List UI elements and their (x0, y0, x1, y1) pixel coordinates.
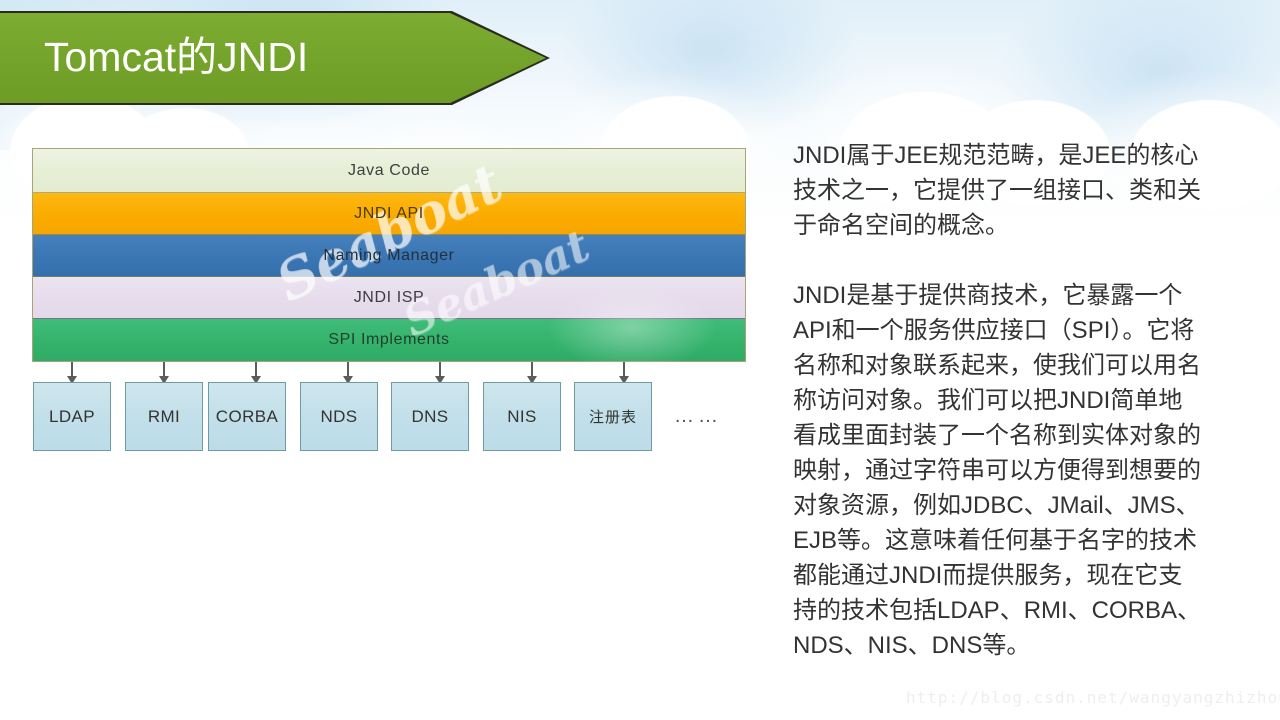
provider-box-rmi-label: RMI (148, 407, 180, 427)
provider-box-corba-label: CORBA (216, 407, 278, 427)
provider-box-ldap-label: LDAP (49, 407, 95, 427)
provider-box-nds[interactable]: NDS (300, 382, 378, 451)
body-paragraph-2: JNDI是基于提供商技术，它暴露一个API和一个服务供应接口（SPI）。它将名称… (793, 278, 1205, 663)
layer-jndi-api-label: JNDI API (354, 205, 424, 223)
layer-spi-implements: SPI Implements (33, 319, 745, 361)
connector-arrow-dns (439, 362, 441, 380)
provider-box-dns[interactable]: DNS (391, 382, 469, 451)
provider-box-registry[interactable]: 注册表 (574, 382, 652, 451)
provider-box-ldap[interactable]: LDAP (33, 382, 111, 451)
provider-box-rmi[interactable]: RMI (125, 382, 203, 451)
provider-box-registry-label: 注册表 (589, 406, 637, 427)
connector-arrow-nis (531, 362, 533, 380)
body-paragraph-1: JNDI属于JEE规范范畴，是JEE的核心技术之一，它提供了一组接口、类和关于命… (793, 138, 1205, 243)
layer-naming-manager: Naming Manager (33, 235, 745, 277)
layer-jndi-api: JNDI API (33, 193, 745, 235)
connector-arrow-rmi (163, 362, 165, 380)
provider-box-nis[interactable]: NIS (483, 382, 561, 451)
provider-box-dns-label: DNS (411, 407, 448, 427)
provider-ellipsis: …… (674, 405, 722, 428)
connector-arrow-registry (623, 362, 625, 380)
layer-jndi-isp: JNDI ISP (33, 277, 745, 319)
csdn-watermark: http://blog.csdn.net/wangyangzhizhou (906, 688, 1280, 707)
layer-naming-manager-label: Naming Manager (323, 247, 454, 265)
layer-java-code-label: Java Code (348, 162, 430, 180)
connector-arrow-ldap (71, 362, 73, 380)
provider-box-nis-label: NIS (507, 407, 537, 427)
layer-spi-implements-label: SPI Implements (328, 331, 449, 349)
body-text-column: JNDI属于JEE规范范畴，是JEE的核心技术之一，它提供了一组接口、类和关于命… (793, 138, 1205, 663)
connector-arrow-nds (347, 362, 349, 380)
connector-arrow-corba (255, 362, 257, 380)
layer-jndi-isp-label: JNDI ISP (354, 289, 425, 307)
provider-box-corba[interactable]: CORBA (208, 382, 286, 451)
provider-box-nds-label: NDS (320, 407, 357, 427)
paragraph-spacer (793, 243, 1205, 278)
jndi-layer-stack: Java Code JNDI API Naming Manager JNDI I… (32, 148, 746, 362)
slide-canvas: Tomcat的JNDI Java Code JNDI API Naming Ma… (0, 0, 1280, 720)
page-title: Tomcat的JNDI (44, 27, 308, 87)
layer-java-code: Java Code (33, 149, 745, 193)
